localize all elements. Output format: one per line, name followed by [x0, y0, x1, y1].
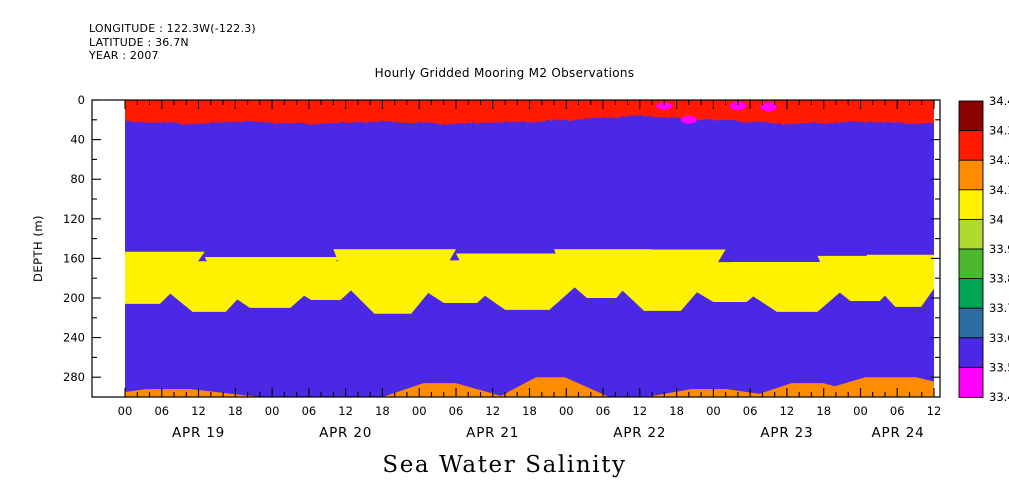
- x-hour-label: 00: [853, 404, 868, 418]
- contour-field: [82, 100, 1007, 397]
- x-hour-label: 18: [816, 404, 831, 418]
- y-tick-label: 80: [70, 172, 85, 186]
- colorbar-tick-label: 33.7: [989, 301, 1009, 315]
- x-axis-day-labels: APR 19APR 20APR 21APR 22APR 23APR 24: [172, 425, 925, 441]
- x-axis-hour-labels: 0006121800061218000612180006121800061218…: [118, 404, 942, 418]
- x-hour-label: 06: [890, 404, 905, 418]
- colorbar-band: [959, 279, 983, 309]
- x-hour-label: 12: [927, 404, 942, 418]
- x-hour-label: 18: [522, 404, 537, 418]
- colorbar-tick-label: 33.9: [989, 242, 1009, 256]
- y-tick-label: 120: [63, 212, 85, 226]
- x-hour-label: 06: [449, 404, 464, 418]
- y-tick-label: 40: [70, 133, 85, 147]
- colorbar-band: [959, 190, 983, 220]
- x-day-label: APR 19: [172, 425, 225, 441]
- x-hour-label: 12: [485, 404, 500, 418]
- colorbar-band: [959, 249, 983, 279]
- y-tick-label: 0: [78, 93, 85, 107]
- x-hour-label: 06: [596, 404, 611, 418]
- y-tick-label: 200: [63, 291, 85, 305]
- y-axis-title: DEPTH (m): [31, 215, 45, 282]
- x-hour-label: 00: [118, 404, 133, 418]
- colorbar-tick-label: 34.3: [989, 124, 1009, 138]
- x-hour-label: 06: [154, 404, 169, 418]
- x-hour-label: 12: [191, 404, 206, 418]
- x-day-label: APR 24: [871, 425, 924, 441]
- colorbar-band: [959, 367, 983, 397]
- x-hour-label: 12: [338, 404, 353, 418]
- colorbar-band: [959, 308, 983, 338]
- colorbar-band: [959, 338, 983, 368]
- x-hour-label: 00: [559, 404, 574, 418]
- x-day-label: APR 21: [466, 425, 519, 441]
- salinity-contour-figure: LONGITUDE : 122.3W(-122.3) LATITUDE : 36…: [0, 0, 1009, 504]
- colorbar-tick-label: 34: [989, 212, 1004, 226]
- x-hour-label: 00: [412, 404, 427, 418]
- colorbar-tick-label: 34.1: [989, 183, 1009, 197]
- x-day-label: APR 20: [319, 425, 372, 441]
- x-hour-label: 06: [743, 404, 758, 418]
- x-day-label: APR 23: [760, 425, 813, 441]
- colorbar-band: [959, 219, 983, 249]
- y-tick-label: 160: [63, 251, 85, 265]
- colorbar-tick-label: 34.4: [989, 94, 1009, 108]
- x-hour-label: 18: [375, 404, 390, 418]
- colorbar-band: [959, 101, 983, 131]
- figure-caption: Sea Water Salinity: [0, 452, 1009, 478]
- x-day-label: APR 22: [613, 425, 666, 441]
- colorbar-band: [959, 160, 983, 190]
- x-hour-label: 00: [706, 404, 721, 418]
- y-axis-labels: 04080120160200240280: [63, 93, 85, 384]
- y-axis-title-text: DEPTH (m): [31, 215, 45, 282]
- colorbar-tick-label: 33.8: [989, 272, 1009, 286]
- y-tick-label: 240: [63, 331, 85, 345]
- colorbar: 34.434.334.234.13433.933.833.733.633.533…: [959, 94, 1009, 404]
- colorbar-tick-label: 33.4: [989, 390, 1009, 404]
- colorbar-tick-label: 34.2: [989, 153, 1009, 167]
- x-hour-label: 00: [265, 404, 280, 418]
- x-hour-label: 06: [302, 404, 317, 418]
- y-tick-label: 280: [63, 370, 85, 384]
- x-hour-label: 12: [780, 404, 795, 418]
- colorbar-tick-label: 33.6: [989, 331, 1009, 345]
- x-hour-label: 18: [669, 404, 684, 418]
- colorbar-band: [959, 131, 983, 161]
- colorbar-tick-label: 33.5: [989, 360, 1009, 374]
- x-hour-label: 18: [228, 404, 243, 418]
- x-hour-label: 12: [632, 404, 647, 418]
- contour-plot-svg: 04080120160200240280 0006121800061218000…: [0, 0, 1009, 504]
